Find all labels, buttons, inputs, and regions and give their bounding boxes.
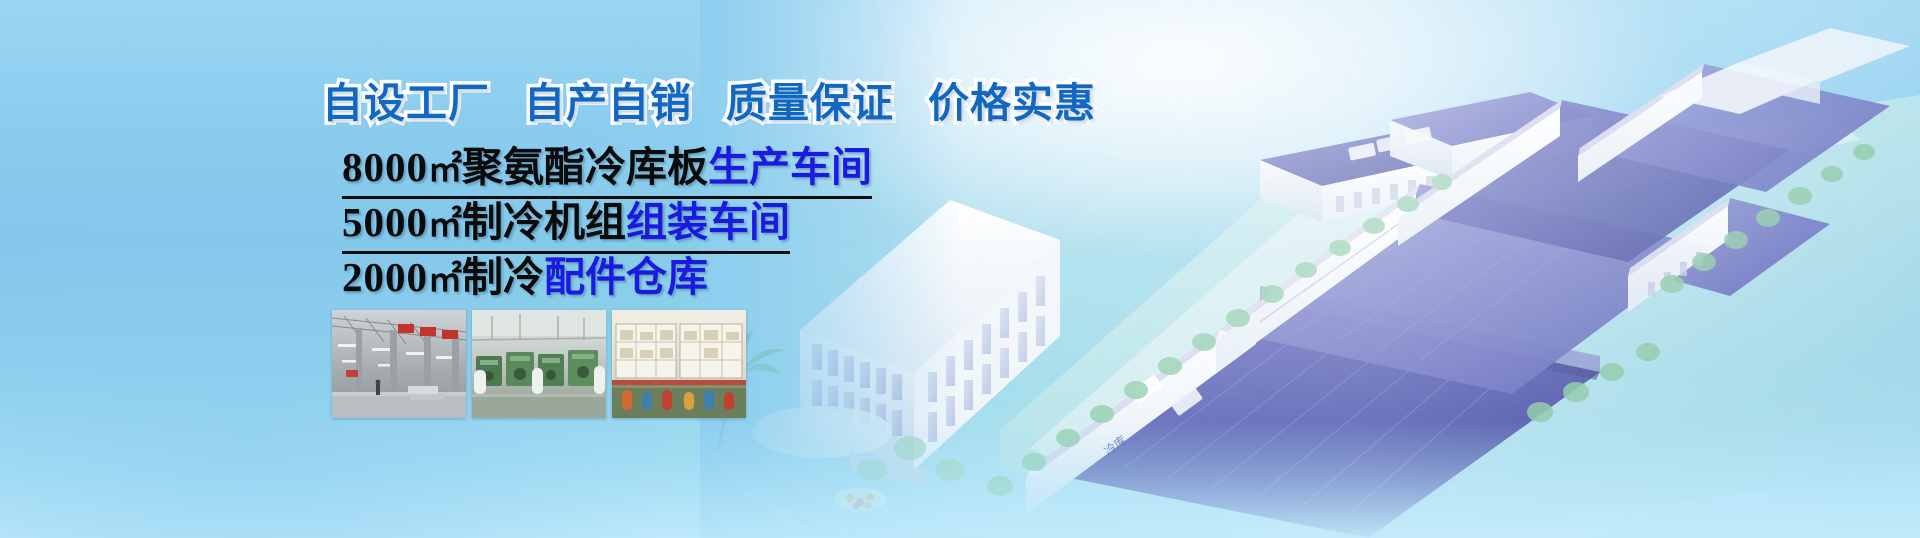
refrigeration-units-photo[interactable]	[472, 310, 606, 418]
body-line-1-number: 8000	[342, 144, 428, 190]
body-line-3-text: 制冷	[462, 254, 544, 300]
body-line-3-number: 2000	[342, 254, 428, 300]
headline: 自设工厂 自产自销 质量保证 价格实惠	[322, 69, 1096, 129]
factory-interior-photo[interactable]	[332, 310, 466, 418]
headline-segment-2: 自产自销	[524, 69, 692, 129]
body-line-2-number: 5000	[342, 199, 428, 245]
body-line-1: 8000㎡聚氨酯冷库板生产车间	[342, 144, 872, 199]
headline-segment-3: 质量保证	[726, 69, 894, 129]
body-line-2-accent: 组装车间	[626, 199, 790, 245]
body-line-3: 2000㎡制冷配件仓库	[342, 254, 708, 302]
body-line-1-text: 聚氨酯冷库板	[462, 144, 708, 190]
body-lines: 8000㎡聚氨酯冷库板生产车间 5000㎡制冷机组组装车间 2000㎡制冷配件仓…	[342, 144, 872, 304]
body-line-2-text: 制冷机组	[462, 199, 626, 245]
thumbnail-strip	[332, 310, 746, 418]
parts-warehouse-photo[interactable]	[612, 310, 746, 418]
headline-segment-1: 自设工厂	[322, 69, 490, 129]
promo-banner: 冷库	[0, 0, 1920, 538]
body-line-2-wrap: 5000㎡制冷机组组装车间	[342, 199, 872, 254]
headline-segment-4: 价格实惠	[928, 69, 1096, 129]
body-line-1-wrap: 8000㎡聚氨酯冷库板生产车间	[342, 144, 872, 199]
body-line-3-wrap: 2000㎡制冷配件仓库	[342, 254, 872, 304]
body-line-3-accent: 配件仓库	[544, 254, 708, 300]
body-line-2-unit: ㎡	[428, 207, 462, 244]
body-line-2: 5000㎡制冷机组组装车间	[342, 199, 790, 254]
body-line-3-unit: ㎡	[428, 262, 462, 299]
body-line-1-accent: 生产车间	[708, 144, 872, 190]
body-line-1-unit: ㎡	[428, 152, 462, 189]
